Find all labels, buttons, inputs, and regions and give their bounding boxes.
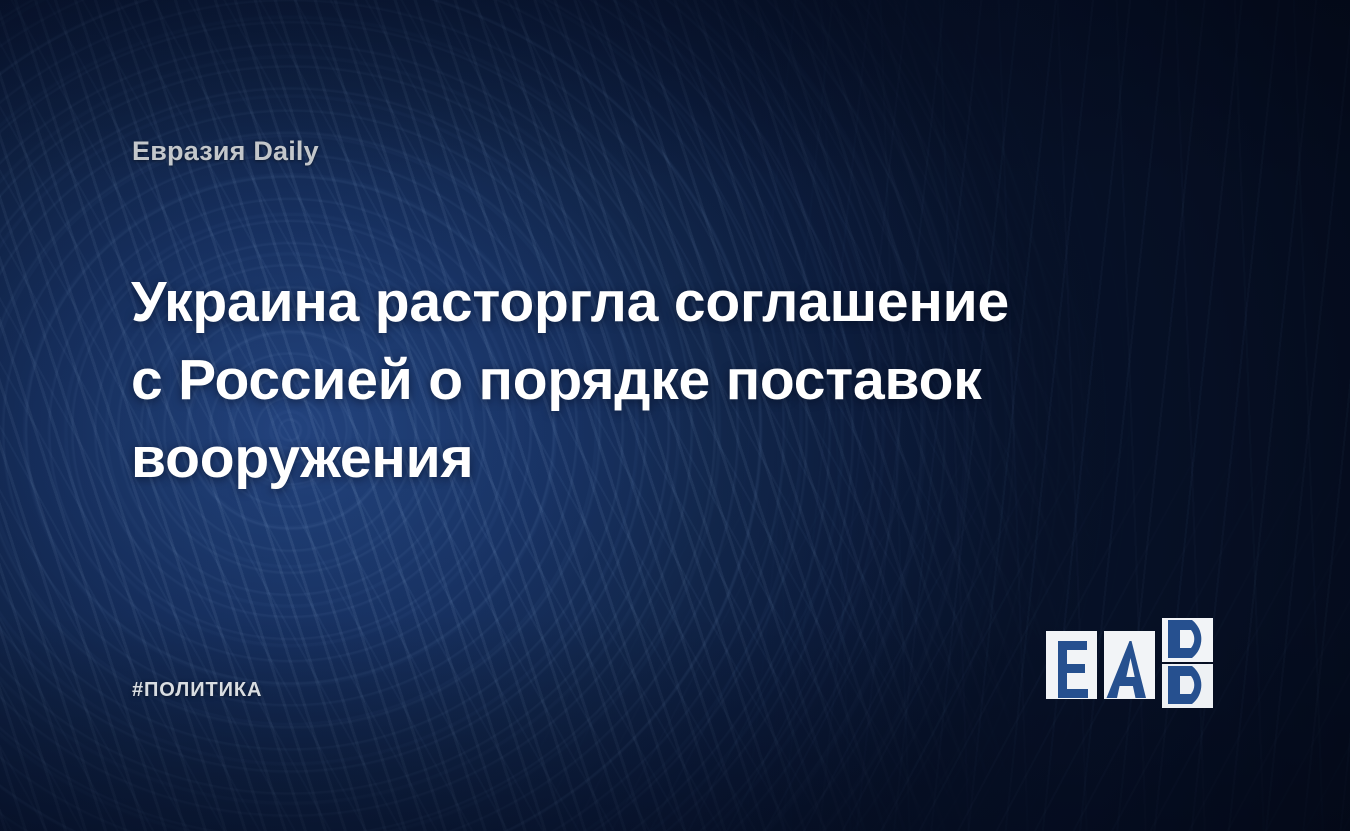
card-content: Евразия Daily Украина расторгла соглашен… <box>0 0 1350 831</box>
headline-line-1: Украина расторгла соглашение <box>131 263 1031 341</box>
logo-letter-e <box>1058 641 1088 698</box>
category-tag[interactable]: #ПОЛИТИКА <box>132 679 262 702</box>
logo-tile-d <box>1162 618 1213 708</box>
news-social-card: Евразия Daily Украина расторгла соглашен… <box>0 0 1350 831</box>
headline-line-2: с Россией о порядке поставок <box>131 341 1031 419</box>
brand-name: Евразия Daily <box>132 136 319 167</box>
eadaily-logo <box>1042 614 1226 709</box>
logo-tile-e <box>1046 631 1097 699</box>
headline-line-3: вооружения <box>131 419 1031 497</box>
page-title: Украина расторгла соглашение с Россией о… <box>131 263 1031 497</box>
eadaily-logo-svg <box>1042 614 1226 709</box>
logo-tile-a <box>1104 631 1155 699</box>
